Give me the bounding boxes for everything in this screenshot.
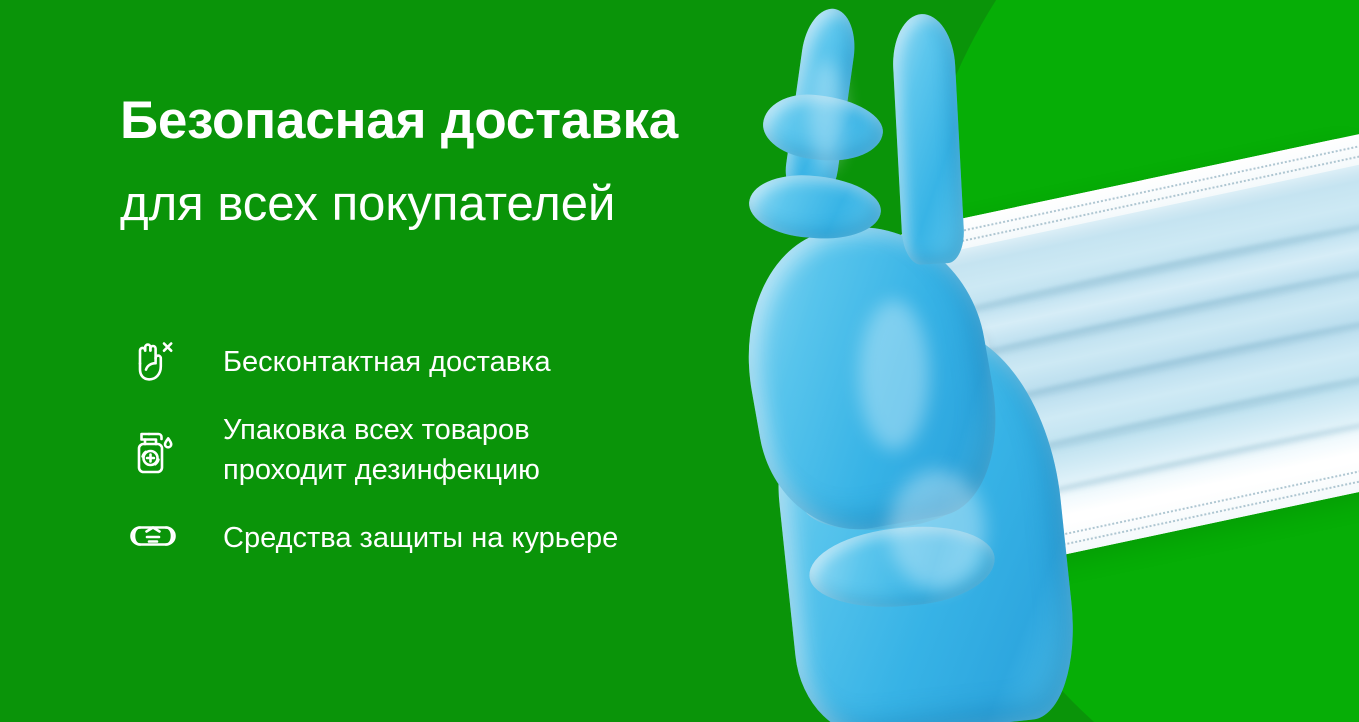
- banner-headline: Безопасная доставка: [120, 92, 678, 149]
- mask-stitching: [917, 146, 1358, 242]
- feature-label: Упаковка всех товаров проходит дезинфекц…: [223, 410, 540, 490]
- banner-subheadline: для всех покупателей: [120, 178, 615, 232]
- no-touch-hand-icon: [120, 329, 186, 395]
- feature-item-contactless-delivery: Бесконтактная доставка: [120, 326, 780, 398]
- glove-highlight: [809, 60, 845, 170]
- glove-highlight: [889, 470, 985, 590]
- sanitizer-bottle-icon: [120, 417, 186, 483]
- feature-item-courier-protection: Средства защиты на курьере: [120, 502, 780, 574]
- feature-list: Бесконтактная доставка: [120, 326, 780, 574]
- feature-label: Бесконтактная доставка: [223, 342, 551, 382]
- glove-finger-middle: [891, 13, 966, 266]
- feature-item-disinfected-packaging: Упаковка всех товаров проходит дезинфекц…: [120, 398, 780, 502]
- safe-delivery-banner: Безопасная доставка для всех покупателей…: [0, 0, 1359, 722]
- banner-content: Безопасная доставка для всех покупателей…: [120, 0, 800, 722]
- protective-equipment-photo: [739, 0, 1359, 722]
- feature-label: Средства защиты на курьере: [223, 518, 618, 558]
- glove-highlight: [859, 300, 929, 450]
- face-mask-icon: [120, 505, 186, 571]
